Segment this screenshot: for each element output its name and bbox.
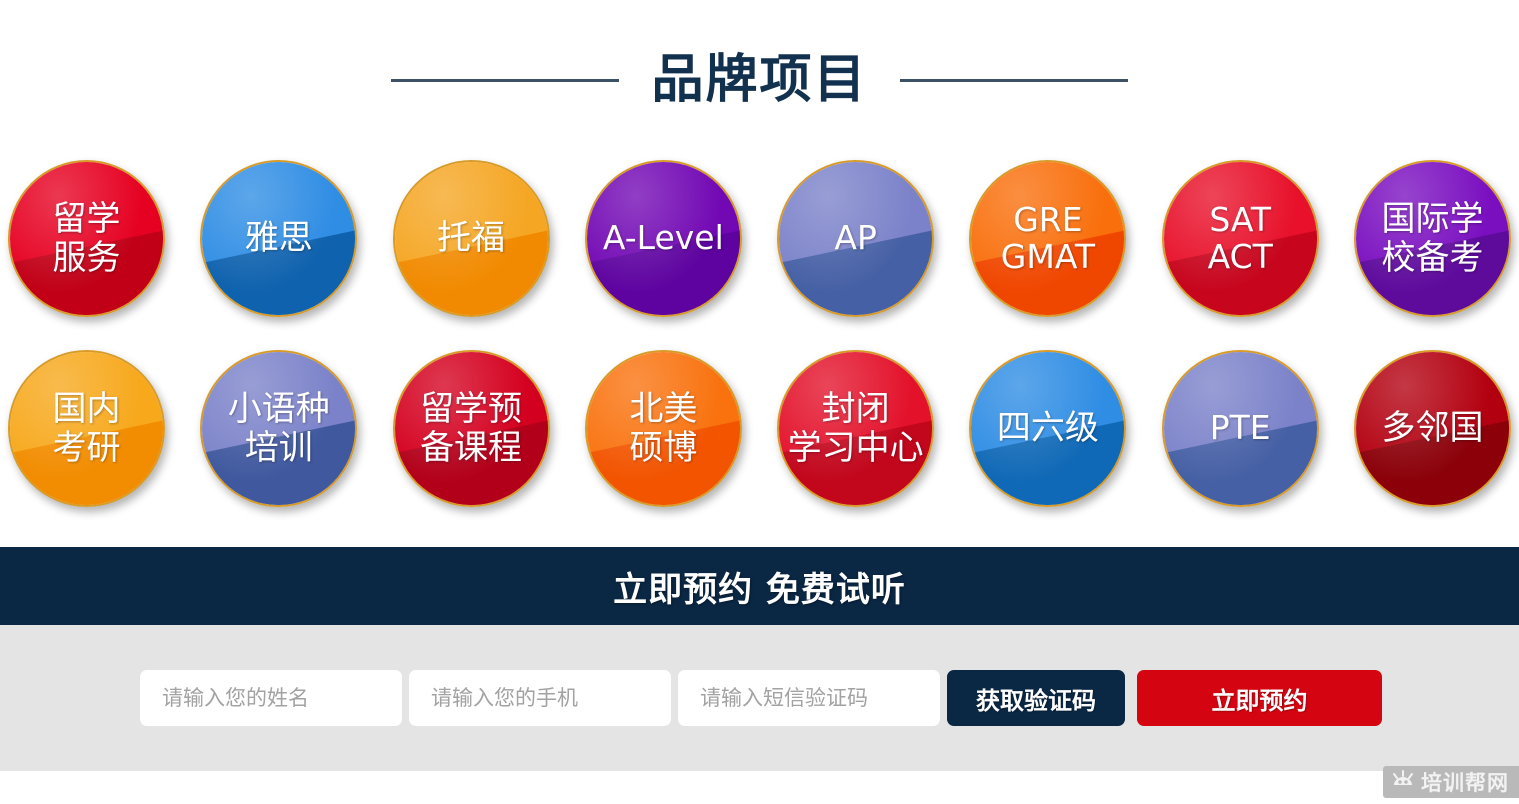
- watermark-text: 培训帮网: [1421, 767, 1509, 797]
- program-bubble[interactable]: 托福: [393, 160, 550, 317]
- program-bubble[interactable]: PTE: [1162, 350, 1319, 507]
- title-rule-left: [391, 79, 619, 82]
- eye-sun-icon: [1392, 770, 1414, 795]
- watermark: 培训帮网: [1383, 766, 1519, 798]
- booking-form: 获取验证码 立即预约: [0, 625, 1519, 771]
- program-grid: 留学服务雅思托福A-LevelAPGREGMATSATACT国际学校备考 国内考…: [0, 160, 1519, 507]
- program-bubble-label: A-Level: [603, 220, 724, 257]
- program-bubble-label: AP: [834, 220, 876, 257]
- page-header: 品牌项目: [0, 0, 1519, 160]
- phone-input[interactable]: [409, 670, 671, 726]
- program-bubble[interactable]: 小语种培训: [200, 350, 357, 507]
- program-bubble[interactable]: SATACT: [1162, 160, 1319, 317]
- program-bubble[interactable]: 国内考研: [8, 350, 165, 507]
- program-bubble[interactable]: 四六级: [969, 350, 1126, 507]
- program-bubble-label: 托福: [437, 219, 505, 257]
- program-bubble-label: SATACT: [1208, 202, 1273, 276]
- program-bubble-label: 小语种培训: [228, 390, 330, 466]
- program-bubble[interactable]: 多邻国: [1354, 350, 1511, 507]
- program-bubble[interactable]: GREGMAT: [969, 160, 1126, 317]
- page-title: 品牌项目: [651, 54, 867, 106]
- program-bubble-label: 雅思: [245, 219, 313, 257]
- program-bubble-label: 国际学校备考: [1381, 200, 1483, 276]
- submit-booking-button[interactable]: 立即预约: [1137, 670, 1382, 726]
- program-bubble-label: 多邻国: [1381, 409, 1483, 447]
- program-bubble-label: 北美硕博: [629, 390, 697, 466]
- program-bubble[interactable]: 北美硕博: [585, 350, 742, 507]
- get-code-button[interactable]: 获取验证码: [947, 670, 1125, 726]
- program-bubble-label: 封闭学习中心: [788, 390, 924, 466]
- program-bubble[interactable]: 留学服务: [8, 160, 165, 317]
- program-bubble[interactable]: AP: [777, 160, 934, 317]
- program-bubble-label: 国内考研: [53, 390, 121, 466]
- cta-band: 立即预约 免费试听: [0, 547, 1519, 625]
- program-bubble[interactable]: 雅思: [200, 160, 357, 317]
- program-row-2: 国内考研小语种培训留学预备课程北美硕博封闭学习中心四六级PTE多邻国: [8, 350, 1511, 507]
- program-bubble-label: 留学预备课程: [420, 390, 522, 466]
- program-bubble-label: 四六级: [997, 409, 1099, 447]
- program-bubble[interactable]: 留学预备课程: [393, 350, 550, 507]
- sms-code-input[interactable]: [678, 670, 940, 726]
- program-bubble[interactable]: A-Level: [585, 160, 742, 317]
- program-bubble-label: PTE: [1210, 410, 1271, 447]
- program-bubble-label: GREGMAT: [1001, 202, 1095, 276]
- cta-band-text: 立即预约 免费试听: [613, 562, 906, 611]
- program-row-1: 留学服务雅思托福A-LevelAPGREGMATSATACT国际学校备考: [8, 160, 1511, 317]
- name-input[interactable]: [140, 670, 402, 726]
- program-bubble[interactable]: 国际学校备考: [1354, 160, 1511, 317]
- program-bubble[interactable]: 封闭学习中心: [777, 350, 934, 507]
- title-rule-right: [900, 79, 1128, 82]
- program-bubble-label: 留学服务: [53, 200, 121, 276]
